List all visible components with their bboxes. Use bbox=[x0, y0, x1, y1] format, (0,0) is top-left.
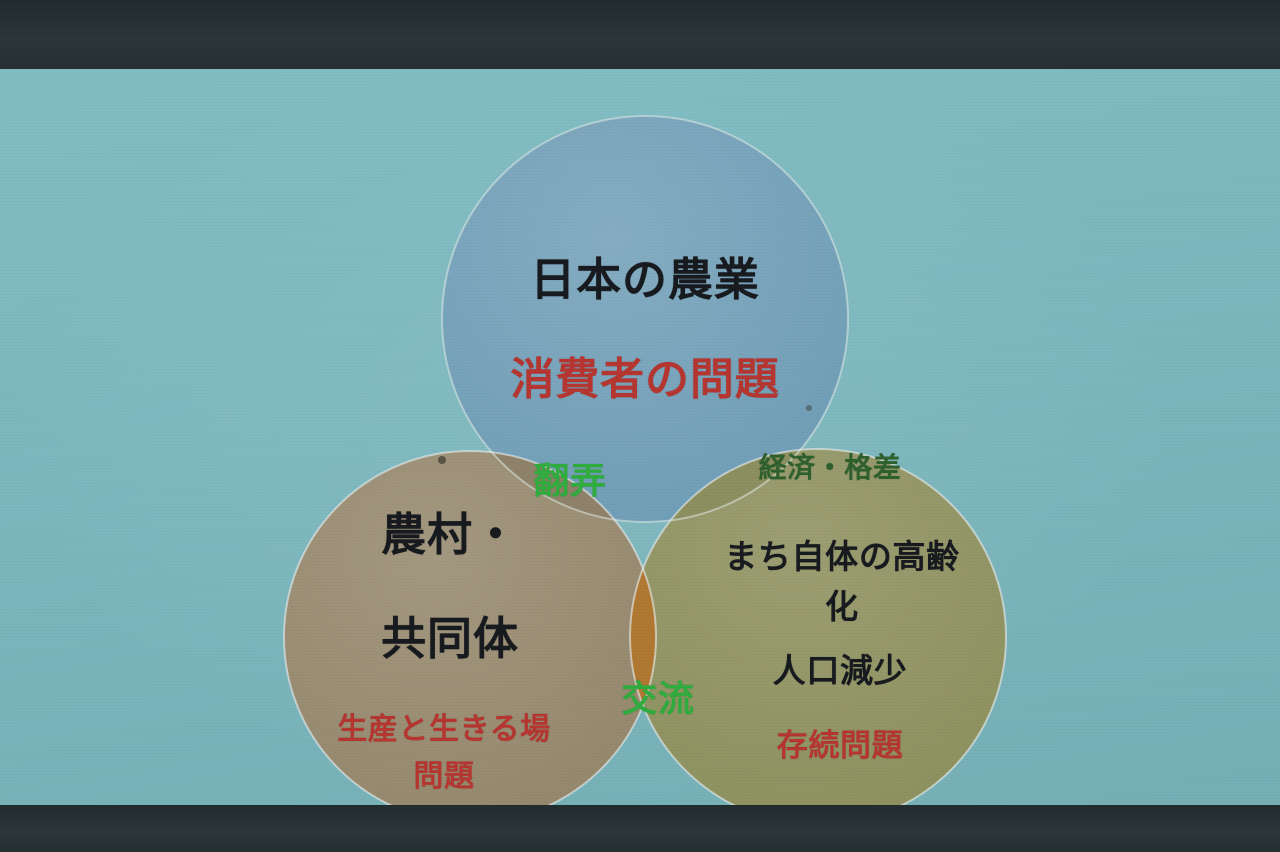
venn-diagram bbox=[0, 69, 1280, 805]
projected-slide-photo: 日本の農業 消費者の問題 農村・ 共同体 生産と生きる場 問題 経済・格差 まち… bbox=[0, 0, 1280, 852]
screen-bezel-bottom bbox=[0, 805, 1280, 852]
dust-speck bbox=[806, 405, 812, 411]
slide-canvas: 日本の農業 消費者の問題 農村・ 共同体 生産と生きる場 問題 経済・格差 まち… bbox=[0, 69, 1280, 805]
dust-speck bbox=[438, 456, 446, 464]
screen-bezel-top bbox=[0, 0, 1280, 69]
